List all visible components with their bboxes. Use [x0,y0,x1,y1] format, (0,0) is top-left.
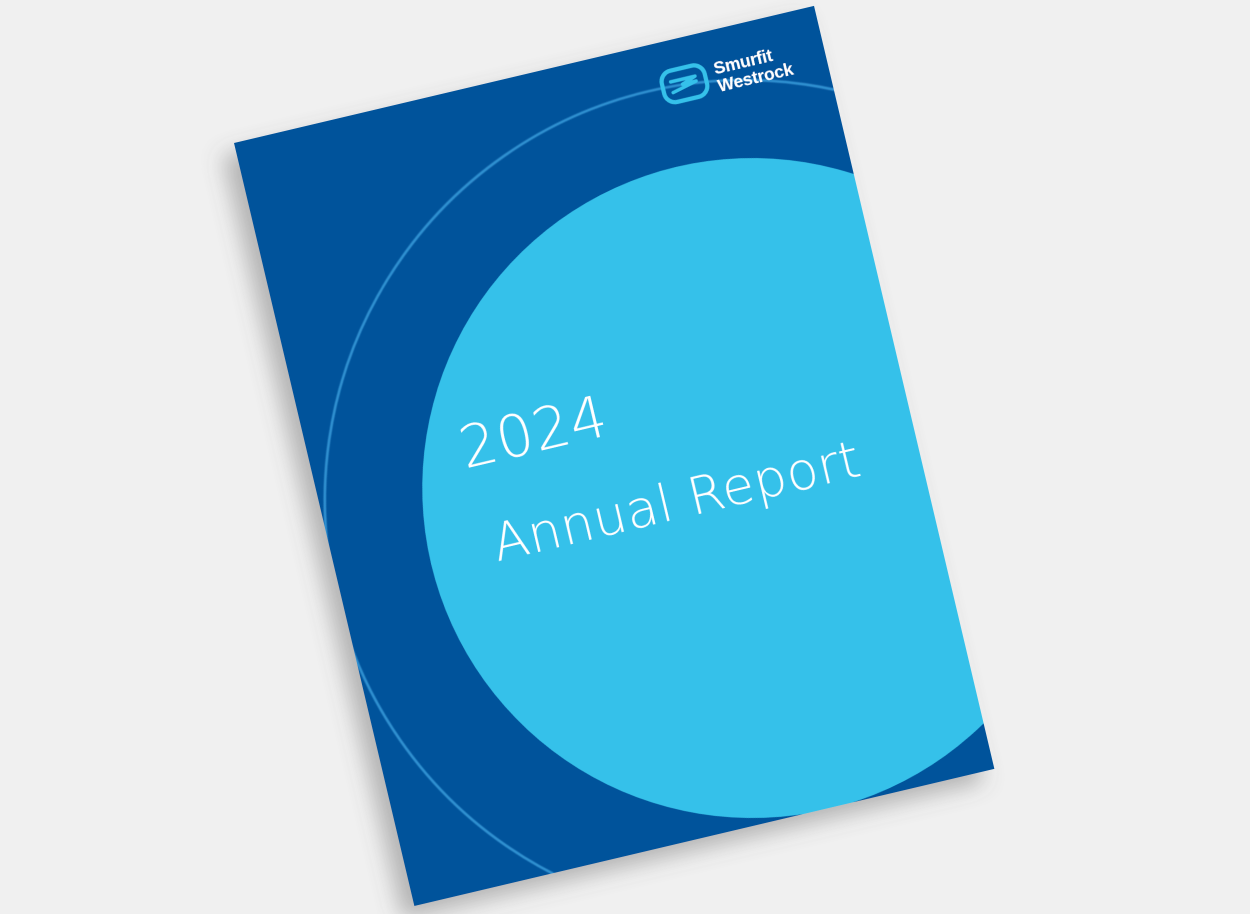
scene-root: Smurfit Westrock 2024 Annual Report 2024… [0,0,1250,914]
book-cover-illustration: Smurfit Westrock 2024 Annual Report [0,0,1250,914]
